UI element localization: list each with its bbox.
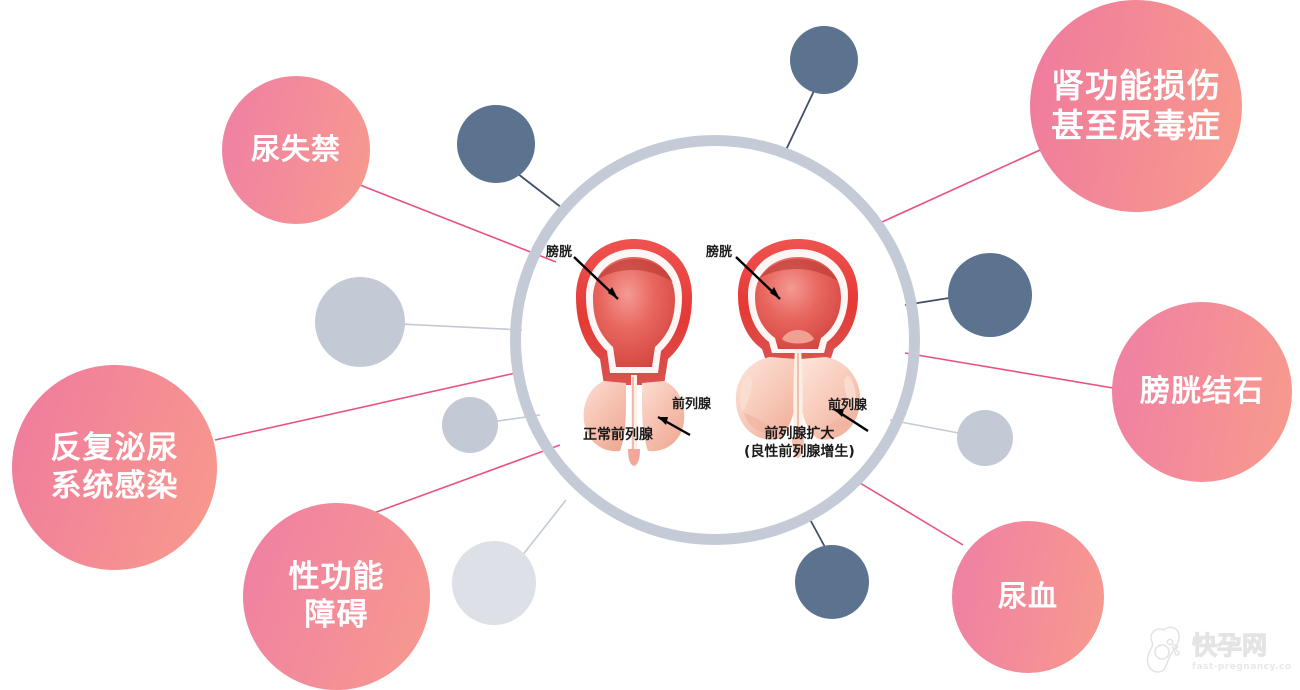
watermark: 快孕网 fast-pregnancy.com — [1142, 622, 1292, 680]
line-incontinence — [360, 185, 556, 262]
slate-dot-right — [948, 253, 1032, 337]
bubble-kidney-damage[interactable]: 肾功能损伤 甚至尿毒症 — [1030, 0, 1242, 212]
gray-dot-left — [315, 277, 405, 367]
bubble-sexual-dysfunction[interactable]: 性功能 障碍 — [243, 503, 430, 690]
gray-dot-midleft — [442, 397, 498, 453]
bubble-hematuria[interactable]: 尿血 — [952, 521, 1104, 673]
slate-dot-top — [790, 26, 858, 94]
label-prostate-normal: 前列腺 — [672, 397, 711, 413]
slate-dot-bottom — [795, 545, 869, 619]
slate-dot-topleft — [457, 105, 535, 183]
gray-dot-rightlow — [957, 410, 1013, 466]
label-bladder-normal: 膀胱 — [546, 245, 572, 261]
caption-normal-prostate: 正常前列腺 — [583, 427, 653, 445]
watermark-url: fast-pregnancy.com — [1192, 662, 1292, 672]
line-hematuria — [855, 480, 963, 545]
line-bladder-stone — [905, 353, 1125, 390]
bubble-bladder-stone[interactable]: 膀胱结石 — [1112, 302, 1292, 482]
footprint-logo-icon — [1147, 627, 1179, 672]
bubble-incontinence[interactable]: 尿失禁 — [222, 76, 370, 224]
bubble-urinary-infection[interactable]: 反复泌尿 系统感染 — [12, 365, 217, 570]
watermark-brand: 快孕网 — [1192, 631, 1267, 660]
line-kidney-damage — [882, 150, 1040, 222]
pale-dot-bottomleft — [452, 541, 536, 625]
caption-enlarged-prostate: 前列腺扩大 (良性前列腺增生) — [744, 426, 855, 461]
label-bladder-enlarged: 膀胱 — [706, 245, 732, 261]
label-prostate-enlarged: 前列腺 — [828, 398, 867, 414]
infographic-canvas: 膀胱 前列腺 正常前列腺 膀胱 前列腺 前列腺扩大 (良性前列腺增生) 尿失禁 … — [0, 0, 1300, 690]
